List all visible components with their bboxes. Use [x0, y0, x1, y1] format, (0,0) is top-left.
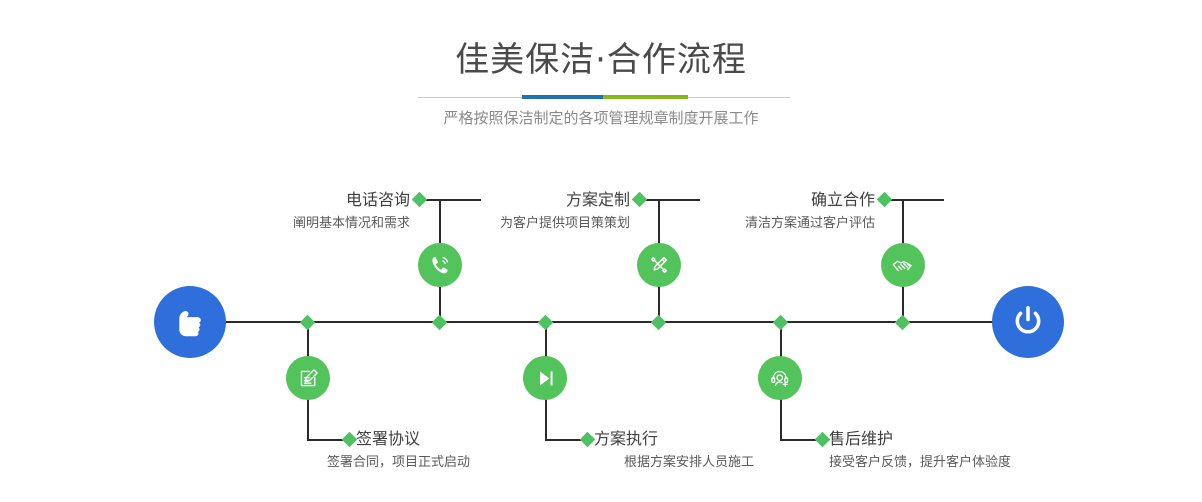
divider-green-segment [603, 95, 688, 99]
page-title: 佳美保洁·合作流程 [0, 38, 1202, 82]
step-top-2-title: 方案定制 [370, 189, 630, 211]
power-icon [1009, 303, 1047, 341]
step-top-2-icon-badge [637, 243, 681, 287]
step-bottom-3-title: 售后维护 [829, 428, 1129, 450]
step-bottom-2-icon-badge [523, 356, 567, 400]
step-top-3-axis-diamond [895, 315, 911, 331]
title-divider [418, 95, 790, 99]
timeline-end-endpoint [992, 286, 1064, 358]
step-top-1-connector-horizontal [424, 199, 481, 201]
support-agent-icon [768, 366, 793, 391]
process-flow-infographic: 佳美保洁·合作流程 严格按照保洁制定的各项管理规章制度开展工作 电话咨询 阐明基… [0, 0, 1202, 502]
step-top-3-title-diamond [877, 192, 893, 208]
play-next-icon [533, 366, 558, 391]
step-top-2-axis-diamond [651, 315, 667, 331]
step-top-3-connector-horizontal [889, 199, 944, 201]
document-edit-icon [296, 366, 321, 391]
handshake-icon [890, 252, 917, 279]
step-top-2-connector-horizontal [644, 199, 700, 201]
pencil-design-icon [646, 252, 672, 278]
step-bottom-1-title-diamond [342, 432, 358, 448]
step-top-3-desc: 清洁方案通过客户评估 [585, 214, 875, 234]
phone-call-icon [427, 252, 453, 278]
step-bottom-3-icon-badge [758, 356, 802, 400]
step-top-1-axis-diamond [432, 315, 448, 331]
step-top-3-icon-badge [881, 243, 925, 287]
step-bottom-2-axis-diamond [538, 315, 554, 331]
page-subtitle: 严格按照保洁制定的各项管理规章制度开展工作 [0, 106, 1202, 130]
step-bottom-1-axis-diamond [300, 315, 316, 331]
timeline-start-endpoint [154, 286, 226, 358]
pointing-hand-icon [171, 303, 209, 341]
step-bottom-1-icon-badge [286, 356, 330, 400]
step-bottom-1-desc: 签署合同，项目正式启动 [327, 453, 647, 473]
step-bottom-3-desc: 接受客户反馈，提升客户体验度 [829, 453, 1159, 473]
divider-blue-segment [522, 95, 603, 99]
step-bottom-3-axis-diamond [773, 315, 789, 331]
step-top-1-icon-badge [418, 243, 462, 287]
